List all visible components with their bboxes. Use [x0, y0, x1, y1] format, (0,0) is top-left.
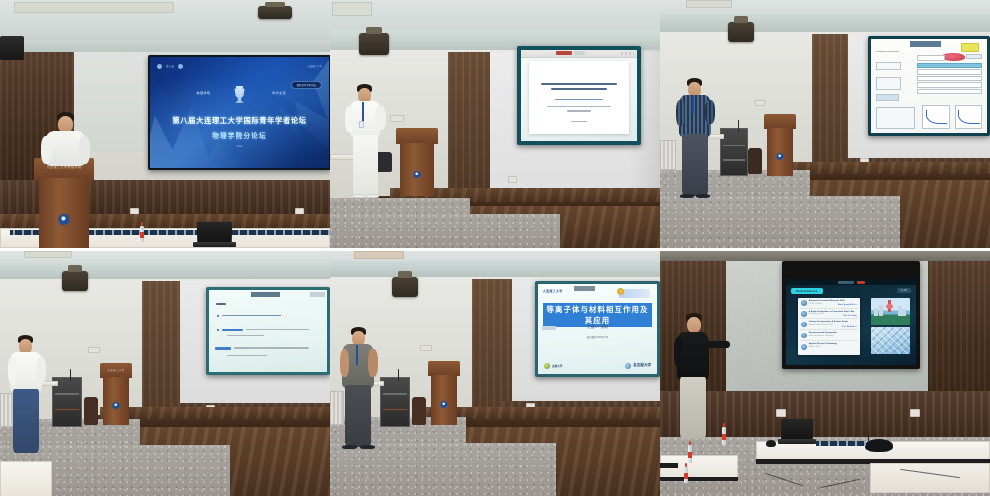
slide-block [966, 54, 982, 59]
list-item-title: Advanced Functional Materials 2023 [809, 300, 845, 302]
wall-outlet [910, 409, 920, 417]
toolbar-tab [574, 51, 584, 55]
chart-thumbnail [922, 105, 950, 129]
podium-3 [764, 114, 796, 176]
slide-left-stamp [542, 326, 556, 330]
slide-subtitle: 2023 [150, 145, 329, 148]
water-bottle [722, 427, 726, 445]
highlight-tag [961, 43, 979, 52]
slide-affiliation-line [567, 110, 591, 111]
list-item: Carbon-Ion Interaction & Surface Study A… [800, 321, 857, 331]
radiator [660, 140, 676, 170]
slide-image-circuit [871, 327, 910, 354]
ceiling-recess [24, 251, 72, 258]
slide-corner-tag [310, 292, 324, 297]
bullet-line [222, 315, 281, 317]
slide-header-bar [251, 292, 279, 297]
dot-icon [178, 64, 183, 69]
dot-icon [157, 64, 162, 69]
cart-shelf [383, 393, 408, 395]
bottle-label [140, 232, 144, 237]
bullet-subline [227, 335, 265, 336]
strip-chip [838, 281, 854, 284]
arm-left [676, 100, 685, 126]
building [874, 308, 878, 316]
arm-left [8, 357, 17, 385]
screen-inner: 第八届 大连理工大学 国际青年学者论坛 物理学院 学术交流 第八届大连理工大学国… [150, 57, 329, 168]
equipment-bag [412, 397, 426, 425]
shoe-left [680, 194, 694, 198]
shoe-right [366, 194, 379, 198]
toolbar-tab-active [556, 51, 572, 55]
list-item: Nanostructured Composites Journal of Mat… [800, 331, 857, 341]
podium-body [431, 375, 457, 425]
equipment-bag [748, 148, 762, 174]
slide-title-line [541, 83, 617, 85]
slide-side-right: 学术交流 [272, 90, 286, 95]
list-item: A Study of Interfaces in Perovskite Sola… [800, 310, 857, 320]
slide-plasma-title: 大连理工大学 等离子体与材料相互作用及其应用 汇报人：张明 指导教师 2023年… [538, 284, 657, 374]
university-logo-icon [625, 363, 631, 369]
slide-title-line-2: 物理学院分论坛 [150, 130, 329, 140]
podium-4: 大连理工大学 [100, 363, 132, 425]
podium-5 [428, 361, 460, 425]
podium-top [396, 128, 438, 144]
wall-outlet [508, 176, 517, 183]
arm-left [41, 136, 52, 164]
slide-white-title [521, 50, 637, 141]
logo-left-group: 吉林大学 [544, 363, 562, 369]
screen-inner: Publications 4 / 18 Advanced Functional … [786, 279, 916, 365]
list-item-author: Prof. Wenbin Li [842, 326, 857, 328]
seal-icon [617, 288, 624, 295]
podium-label: 大连理工大学 [102, 368, 130, 372]
table-row [917, 69, 982, 75]
bullet-highlight [222, 329, 243, 331]
university-calligraphy: 大连理工大学 [543, 289, 563, 293]
bullet-icon [217, 329, 219, 331]
bullet-line [234, 347, 310, 349]
collage-panel-6: Publications 4 / 18 Advanced Functional … [660, 248, 990, 496]
microphone-stand [738, 120, 739, 132]
trophy-icon [233, 86, 247, 103]
shoe-left [342, 445, 357, 449]
presentation-screen-5: 大连理工大学 等离子体与材料相互作用及其应用 汇报人：张明 指导教师 2023年… [535, 281, 660, 377]
conference-table-right [870, 463, 990, 493]
speaker-person-6 [674, 313, 720, 463]
table-row [917, 76, 982, 82]
toolbar-controls [621, 52, 634, 55]
cart-shelf [723, 159, 746, 161]
list-item-meta: Journal of Materials Chemistry [809, 335, 833, 337]
bullet-line [246, 329, 310, 331]
bullet-highlight [215, 347, 232, 349]
shoe-right [360, 445, 375, 449]
mouse-pad-device [865, 439, 893, 452]
stage-platform [100, 407, 330, 419]
wood-wall-column [448, 52, 490, 197]
lanyard [362, 102, 364, 122]
arm-left [345, 106, 354, 132]
arm-right [375, 106, 386, 130]
avatar [801, 322, 807, 327]
legs-jeans [13, 389, 39, 453]
list-item-meta: Nano Energy, 2022 [809, 313, 824, 315]
screen-inner [521, 50, 637, 141]
legs-trousers [680, 377, 706, 439]
chart-thumbnail [955, 105, 983, 129]
bullet-subline [227, 355, 267, 356]
list-item: Advanced Functional Materials 2023 Vol. … [800, 299, 857, 309]
slide-body [529, 61, 629, 134]
ceiling-projector [359, 33, 389, 55]
legs-trousers [345, 385, 371, 447]
list-item-title: Applied Physics Technology [809, 343, 837, 345]
slide-block [876, 62, 902, 70]
collage-panel-4: 大连理工大学 [0, 248, 330, 496]
ceiling-projector [258, 6, 292, 19]
laptop-keyboard [193, 242, 236, 247]
university-seal-icon [440, 401, 447, 408]
wall-speaker [0, 36, 24, 60]
microphone-stand [868, 431, 869, 441]
laptop-screen [781, 419, 814, 441]
slide-author-line [555, 99, 603, 101]
head [687, 317, 701, 333]
ceiling-projector [728, 22, 754, 42]
arm-left [674, 337, 683, 367]
podium-2 [396, 128, 438, 196]
list-item-title: A Study of Interfaces in Perovskite Sola… [809, 311, 855, 313]
list-item-author: Xiao-Cheng Wei Liu [838, 304, 857, 306]
powerpoint-toolbar [521, 50, 637, 58]
arm-right [79, 136, 90, 164]
list-item-title: Carbon-Ion Interaction & Surface Study [809, 321, 848, 323]
slide-top-strip [786, 279, 916, 285]
slide-block [876, 77, 902, 90]
cart-shelf [55, 393, 80, 395]
publication-list: Advanced Functional Materials 2023 Vol. … [798, 298, 860, 355]
decor-crystal-right [238, 57, 329, 156]
table-header-row [917, 63, 982, 68]
list-item-meta: Vol. 33, 2301145 [809, 303, 822, 305]
podium-top [428, 361, 460, 376]
presentation-screen-6: Publications 4 / 18 Advanced Functional … [782, 261, 920, 369]
presentation-screen-4 [206, 287, 330, 375]
list-item-meta: Elsevier, 2021 [809, 346, 820, 348]
slide-block [917, 55, 945, 61]
tower-landmark [888, 300, 891, 312]
list-item: Applied Physics Technology Elsevier, 202… [800, 342, 857, 352]
id-badge [359, 121, 364, 128]
slide-title-line-1: 第八届大连理工大学国际青年学者论坛 [150, 116, 329, 126]
lanyard [692, 96, 694, 114]
list-item-author: Prof. Lei Yang [843, 315, 856, 317]
logo-left-text: 吉林大学 [552, 364, 562, 368]
slide-affiliation: 指导教师 2023年7月 [538, 336, 657, 340]
ceiling-projector [392, 277, 418, 297]
university-seal-icon [112, 402, 119, 409]
photo-collage: 第八届 大连理工大学 国际青年学者论坛 物理学院 学术交流 第八届大连理工大学国… [0, 0, 990, 496]
mouse [766, 440, 776, 447]
slide-block [876, 94, 899, 102]
wall-outlet [755, 100, 765, 106]
ceiling-recess [332, 2, 372, 16]
shoe-right [696, 194, 710, 198]
av-equipment-cart [380, 377, 410, 427]
microphone-stand [398, 369, 399, 381]
screen-inner: 大连理工大学 等离子体与材料相互作用及其应用 汇报人：张明 指导教师 2023年… [538, 284, 657, 374]
slide-bullet-list [209, 290, 327, 372]
wall-outlet [390, 115, 404, 122]
speaker-person-1 [38, 112, 92, 170]
avatar [801, 300, 807, 305]
water-bottle [684, 467, 688, 483]
collage-panel-3: Comparison of parameters [660, 0, 990, 248]
presentation-screen-3: Comparison of parameters [868, 36, 990, 136]
wall-outlet [88, 347, 100, 353]
slide-heading-line [216, 303, 225, 305]
university-seal-icon [776, 153, 783, 160]
bullet-icon [217, 315, 219, 317]
building [879, 305, 883, 316]
collage-panel-1: 第八届 大连理工大学 国际青年学者论坛 物理学院 学术交流 第八届大连理工大学国… [0, 0, 330, 248]
laptop-keyboard [778, 439, 816, 444]
slide-block [876, 107, 915, 130]
university-seal-icon [58, 214, 69, 225]
arm-right-pointing [704, 341, 730, 348]
arm-right [36, 357, 46, 383]
bottle-label [722, 434, 726, 440]
building [902, 309, 906, 316]
slide-speaker-line: 汇报人：张明 [538, 324, 657, 329]
slide-data-dashboard: Comparison of parameters [871, 39, 987, 133]
avatar [801, 333, 807, 338]
microphone-array [816, 441, 866, 446]
cart-shelf [723, 145, 746, 147]
bottle-label [684, 473, 688, 478]
slide-badge-left: Publications [791, 288, 822, 294]
wall-outlet [420, 345, 432, 351]
screen-inner [209, 290, 327, 372]
speaker-person-4 [8, 335, 52, 471]
slide-affiliation-line [547, 106, 611, 107]
cart-shelf [383, 409, 408, 411]
presentation-screen-2 [517, 46, 641, 145]
speaker-person-2 [344, 84, 392, 220]
strip-chip-alert [857, 281, 865, 284]
slide-pill-label: 国际青年学者论坛 [291, 81, 322, 89]
speaker-person-5 [340, 327, 384, 467]
slide-caption: Comparison of parameters [876, 51, 900, 54]
screen-inner: Comparison of parameters [871, 39, 987, 133]
slide-header-bar [574, 286, 595, 291]
table-edge [660, 477, 738, 481]
podium-body [767, 128, 793, 176]
collage-panel-5: 大连理工大学 等离子体与材料相互作用及其应用 汇报人：张明 指导教师 2023年… [330, 248, 660, 496]
legs-trousers [682, 134, 708, 196]
list-item-meta: Applied Surface Science 2022 [809, 324, 833, 326]
list-item-title: Nanostructured Composites [809, 332, 837, 334]
arm-left [340, 349, 349, 377]
cart-shelf [55, 409, 80, 411]
slide-top-right-label: 大连理工大学 [308, 64, 322, 68]
av-equipment-cart [720, 128, 748, 176]
building [898, 306, 902, 315]
podium-body [103, 377, 129, 425]
slide-image-skyline [871, 298, 910, 325]
leaf-logo-icon [544, 363, 550, 369]
table-row [917, 89, 982, 95]
logo-right-text: 名古屋大学 [633, 363, 651, 368]
table-edge [660, 463, 678, 468]
table-row [917, 82, 982, 88]
wall-outlet [776, 409, 786, 417]
slide-forum-title: 第八届 大连理工大学 国际青年学者论坛 物理学院 学术交流 第八届大连理工大学国… [150, 57, 329, 168]
equipment-bag [84, 397, 98, 425]
podium-body [400, 143, 434, 196]
slide-side-left: 物理学院 [197, 90, 211, 95]
slide-header-bar [910, 41, 940, 47]
legs-trousers [353, 135, 378, 197]
university-seal-icon [413, 171, 420, 178]
avatar [801, 344, 807, 350]
speaker-person-3 [676, 78, 720, 218]
laptop-screen [197, 222, 233, 244]
avatar [801, 311, 807, 316]
water-bottle [140, 226, 144, 242]
slide-topbar: 第八届 [157, 64, 183, 69]
slide-title-line [551, 88, 607, 90]
arm-right [705, 100, 715, 124]
presentation-screen-1: 第八届 大连理工大学 国际青年学者论坛 物理学院 学术交流 第八届大连理工大学国… [148, 55, 330, 170]
arm-right [368, 349, 378, 377]
podium-1: 大连理工大学物理学院 [34, 158, 94, 248]
podium-body [39, 178, 88, 248]
ceiling-recess [14, 2, 174, 13]
ceiling-edge [660, 251, 990, 261]
collage-panel-2 [330, 0, 660, 248]
slide-badge-right: 4 / 18 [897, 288, 911, 293]
ceiling-recess [686, 0, 732, 8]
ceiling-projector [62, 271, 88, 291]
slide-top-left-label: 第八届 [166, 64, 174, 68]
lanyard [356, 345, 358, 365]
slide-date-line [571, 121, 587, 122]
slide-dark-portfolio: Publications 4 / 18 Advanced Functional … [786, 279, 916, 365]
logo-right-group: 名古屋大学 [625, 363, 651, 369]
shoe-left [352, 194, 365, 198]
microphone-stand [70, 369, 71, 381]
ceiling-recess [354, 251, 404, 259]
